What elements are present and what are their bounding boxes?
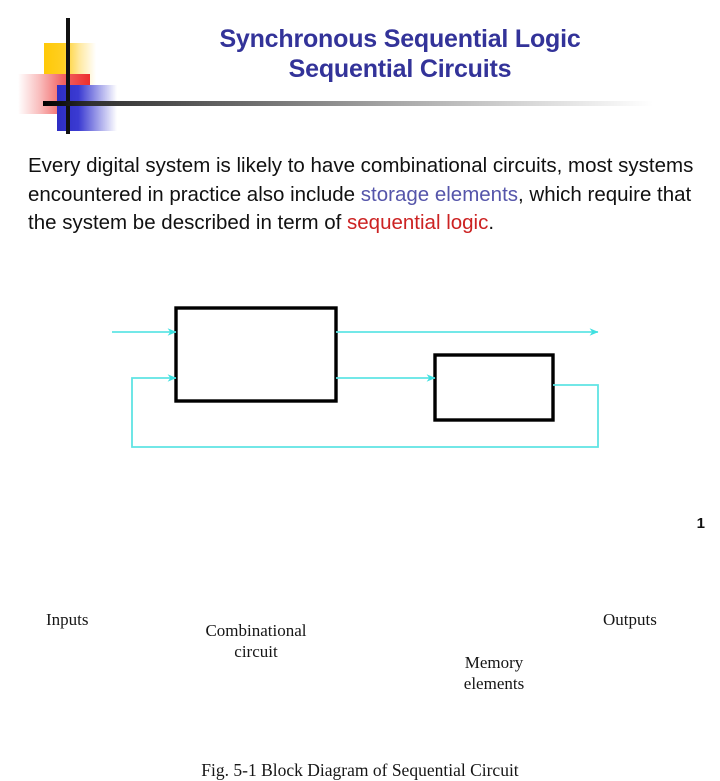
figure-caption: Fig. 5-1 Block Diagram of Sequential Cir… (0, 760, 720, 781)
body-paragraph: Every digital system is likely to have c… (28, 152, 700, 238)
vertical-rule (66, 18, 70, 134)
block-diagram-svg (0, 290, 720, 520)
combinational-label-line-2: circuit (234, 642, 277, 661)
horizontal-rule (43, 101, 653, 106)
memory-label-line-2: elements (464, 674, 524, 693)
combinational-circuit-box (176, 308, 336, 401)
body-segment-3: . (488, 211, 494, 234)
title-line-1: Synchronous Sequential Logic (120, 24, 680, 54)
outputs-label: Outputs (603, 610, 657, 630)
combinational-circuit-label: Combinational circuit (176, 620, 336, 662)
combinational-label-line-1: Combinational (205, 621, 306, 640)
slide-canvas: Synchronous Sequential Logic Sequential … (0, 0, 720, 540)
block-diagram-figure: Combinational circuit Memory elements In… (0, 290, 720, 520)
yellow-square-icon (44, 43, 96, 93)
memory-elements-box (435, 355, 553, 420)
inputs-label: Inputs (46, 610, 89, 630)
blue-square-icon (57, 85, 117, 131)
slide-title: Synchronous Sequential Logic Sequential … (120, 24, 680, 84)
title-line-2: Sequential Circuits (120, 54, 680, 84)
memory-elements-label: Memory elements (435, 652, 553, 694)
highlight-storage-elements: storage elements (361, 183, 518, 206)
page-number: 1 (697, 515, 705, 532)
highlight-sequential-logic: sequential logic (347, 211, 488, 234)
red-square-icon (18, 74, 90, 114)
memory-label-line-1: Memory (465, 653, 524, 672)
